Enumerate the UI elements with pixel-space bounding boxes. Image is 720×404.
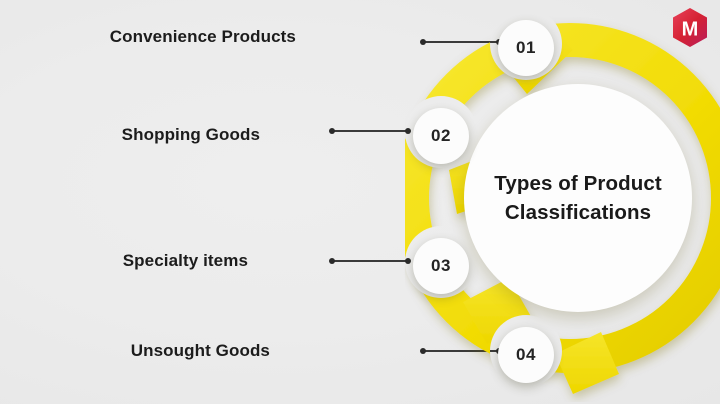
- connector-line-02: [330, 130, 410, 132]
- number-badge-01: 01: [498, 20, 554, 76]
- center-title: Types of Product Classifications: [486, 169, 670, 227]
- marketing91-logo: M: [671, 7, 709, 48]
- item-label-04: Unsought Goods: [131, 342, 270, 359]
- center-circle: Types of Product Classifications: [464, 84, 692, 312]
- item-label-02: Shopping Goods: [122, 126, 260, 143]
- center-title-line2: Classifications: [505, 201, 651, 224]
- connector-line-03: [330, 260, 410, 262]
- item-label-01: Convenience Products: [110, 28, 296, 45]
- center-title-line1: Types of Product: [494, 172, 662, 195]
- number-badge-03: 03: [413, 238, 469, 294]
- svg-text:M: M: [682, 19, 699, 41]
- number-badge-04: 04: [498, 327, 554, 383]
- infographic-canvas: Convenience Products Shopping Goods Spec…: [0, 0, 720, 404]
- number-badge-02: 02: [413, 108, 469, 164]
- item-label-03: Specialty items: [123, 252, 248, 269]
